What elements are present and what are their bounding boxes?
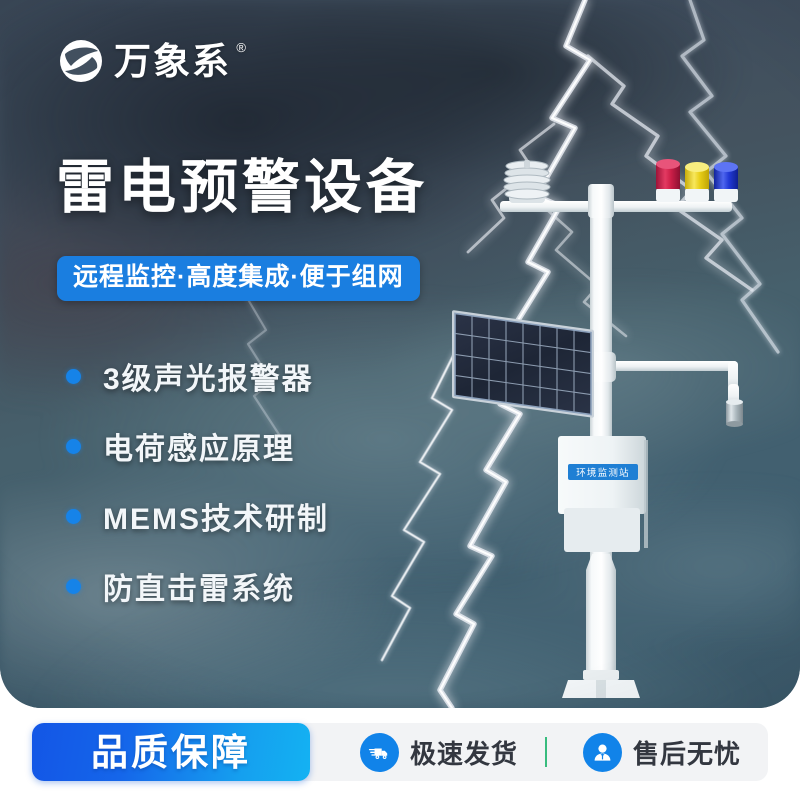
vignette-overlay xyxy=(0,0,800,708)
promo-banner: 环境监测站 万象系 ® 雷电预警设备 远程监控· xyxy=(0,0,800,800)
quality-badge-label: 品质保障 xyxy=(91,734,251,771)
trust-bar-divider xyxy=(545,737,547,767)
trust-item-shipping[interactable]: 极速发货 xyxy=(360,723,518,781)
trust-item-label: 极速发货 xyxy=(410,734,518,771)
trust-bar: 品质保障 极速发货 xyxy=(32,723,768,781)
quality-badge[interactable]: 品质保障 xyxy=(32,723,310,781)
trust-item-label: 售后无忧 xyxy=(633,734,741,771)
delivery-truck-icon xyxy=(360,733,399,772)
hero-image-panel: 环境监测站 万象系 ® 雷电预警设备 远程监控· xyxy=(0,0,800,708)
support-agent-icon xyxy=(583,733,622,772)
trust-item-aftersales[interactable]: 售后无忧 xyxy=(583,723,741,781)
